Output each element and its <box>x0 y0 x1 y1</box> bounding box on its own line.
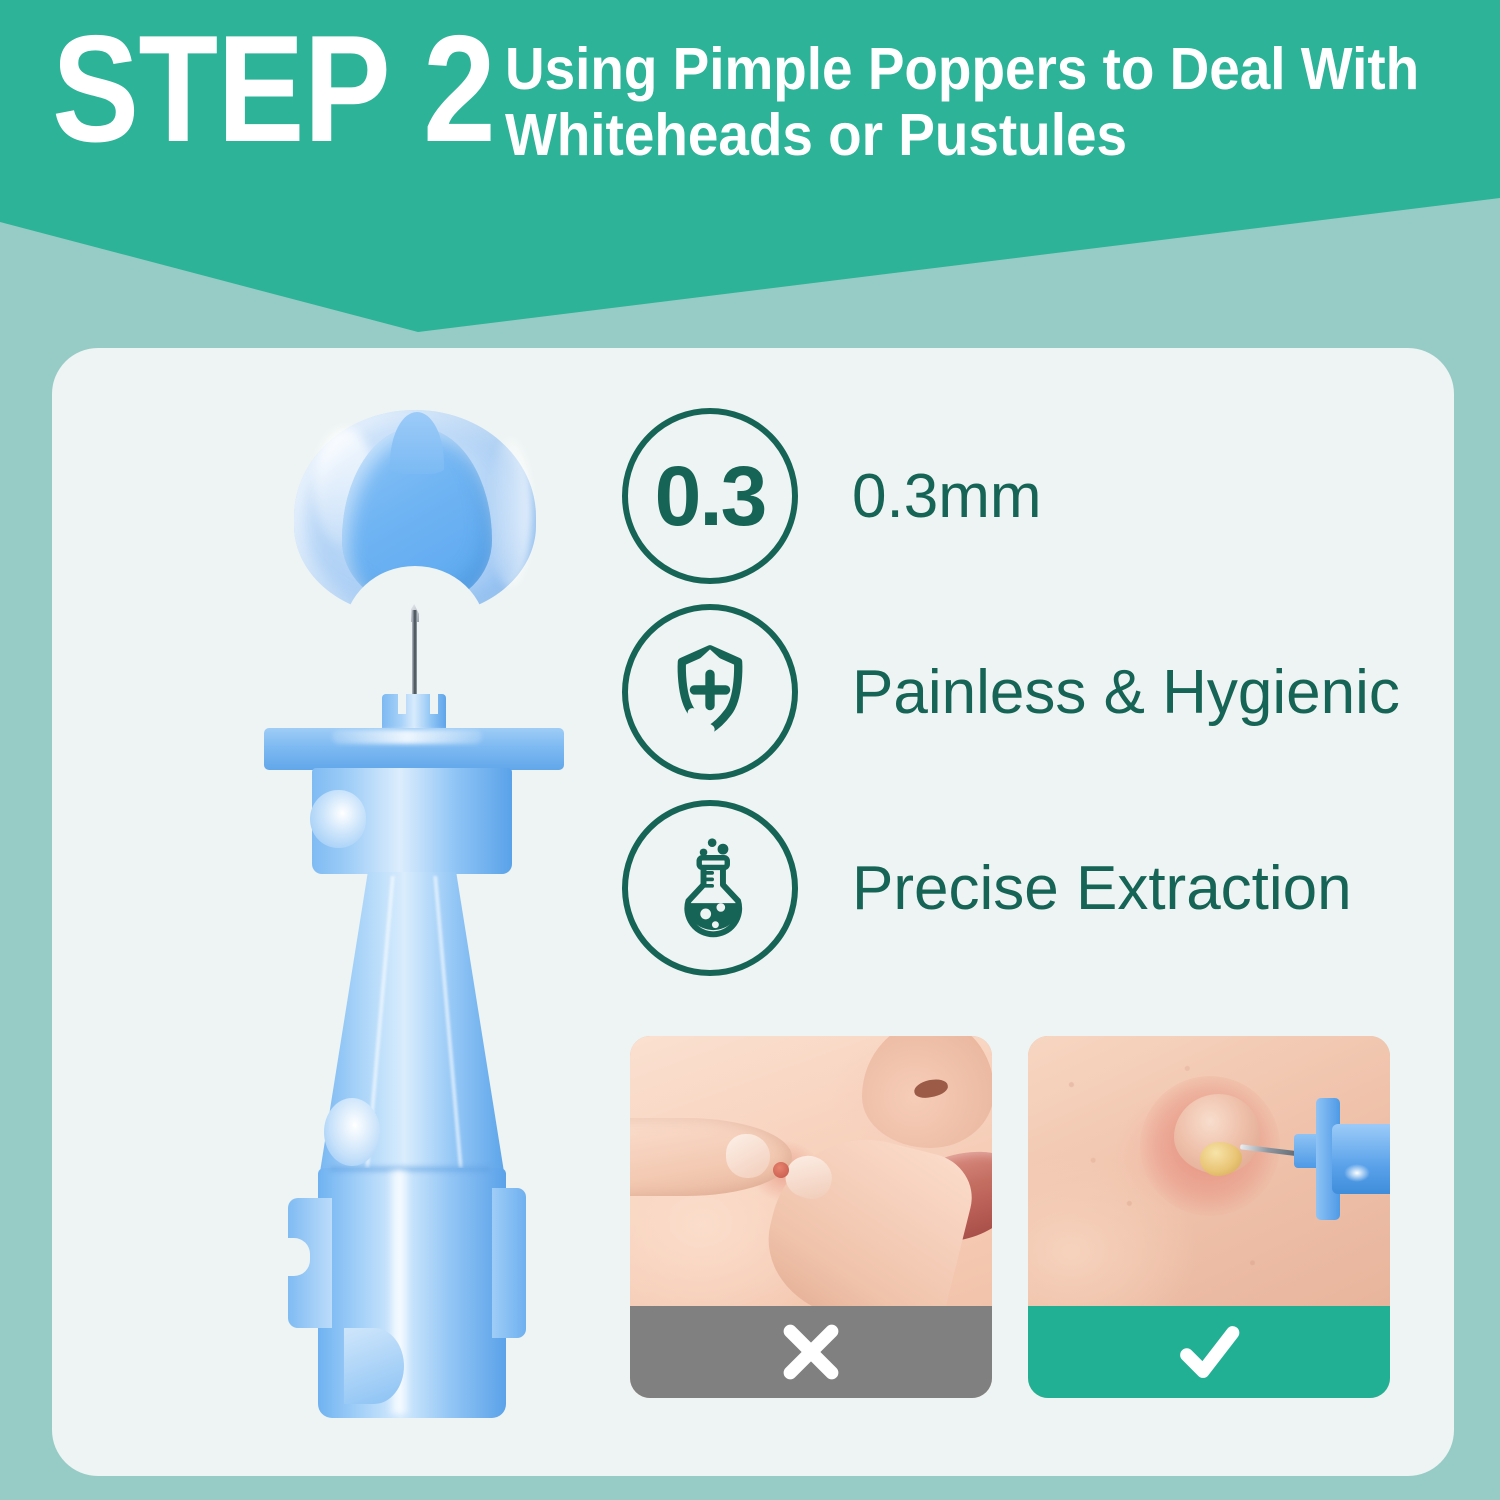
feature-label-size: 0.3mm <box>852 461 1041 532</box>
close-icon <box>774 1315 848 1389</box>
infographic-root: STEP 2 Using Pimple Poppers to Deal With… <box>0 0 1500 1500</box>
feature-label-hygiene: Painless & Hygienic <box>852 657 1400 728</box>
comparison-card-wrong <box>630 1036 992 1398</box>
comparison-card-right <box>1028 1036 1390 1398</box>
verdict-band-right <box>1028 1306 1390 1398</box>
wing-highlight <box>332 730 482 744</box>
header: STEP 2 Using Pimple Poppers to Deal With… <box>0 0 1500 240</box>
barrel-seam <box>330 1166 490 1172</box>
feature-list: 0.3 0.3mm Painless & Hygienic <box>622 398 1412 986</box>
cap-rim-highlight <box>488 438 532 588</box>
feature-row-size: 0.3 0.3mm <box>622 398 1412 594</box>
shield-plus-icon <box>622 604 798 780</box>
flask-bubbles-icon <box>622 800 798 976</box>
photo-lancet-pustule <box>1028 1036 1390 1306</box>
lancet-gloss <box>1344 1164 1370 1182</box>
step-label: STEP 2 <box>52 20 495 160</box>
clip-right <box>492 1188 526 1338</box>
fingernail-left <box>726 1134 770 1178</box>
feature-row-extraction: Precise Extraction <box>622 790 1412 986</box>
hub-slot-left <box>398 694 406 714</box>
collar-knob <box>310 790 366 848</box>
pimple-spot <box>773 1162 789 1178</box>
needle-icon <box>412 610 417 698</box>
verdict-band-wrong <box>630 1306 992 1398</box>
number-badge-icon: 0.3 <box>622 408 798 584</box>
barrel-window <box>344 1328 404 1404</box>
check-icon <box>1172 1315 1246 1389</box>
feature-row-hygiene: Painless & Hygienic <box>622 594 1412 790</box>
content-card: 0.3 0.3mm Painless & Hygienic <box>52 348 1454 1476</box>
barrel-upper-knob <box>324 1098 380 1166</box>
feature-label-extraction: Precise Extraction <box>852 853 1352 924</box>
hub-slot-right <box>430 694 438 714</box>
product-illustration <box>192 398 612 1438</box>
comparison-gallery <box>630 1036 1390 1398</box>
lancet-body <box>1332 1124 1390 1194</box>
page-title: Using Pimple Poppers to Deal With Whiteh… <box>505 36 1430 168</box>
photo-squeeze-pimple <box>630 1036 992 1306</box>
